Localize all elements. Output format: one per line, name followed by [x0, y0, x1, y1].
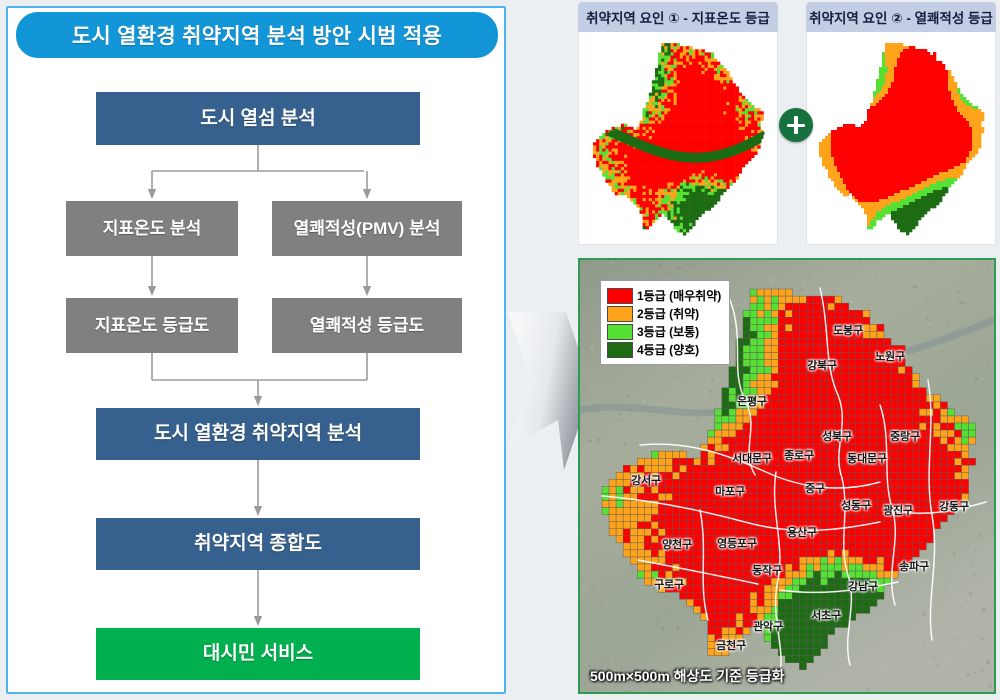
district-label-중구: 중구 [805, 480, 825, 496]
factor-card-2: 취약지역 요인 ② - 열쾌적성 등급 [806, 2, 996, 245]
legend-label-grade-4: 4등급 (양호) [637, 341, 699, 358]
district-label-중랑구: 중랑구 [890, 428, 920, 444]
legend-row: 4등급 (양호) [607, 341, 721, 358]
flow-node-vulnerable-area-analysis[interactable]: 도시 열환경 취약지역 분석 [96, 408, 420, 460]
district-label-종로구: 종로구 [784, 447, 814, 463]
legend-row: 2등급 (취약) [607, 305, 721, 322]
legend-swatch-grade-2 [607, 306, 633, 322]
vulnerability-composite-map[interactable]: 1등급 (매우취약) 2등급 (취약) 3등급 (보통) 4등급 (양호) 도봉… [578, 258, 996, 694]
factor-card-2-map[interactable] [806, 32, 996, 245]
district-label-강북구: 강북구 [807, 357, 837, 373]
district-label-양천구: 양천구 [662, 536, 692, 552]
flow-node-citizen-service[interactable]: 대시민 서비스 [96, 628, 420, 680]
legend-swatch-grade-4 [607, 342, 633, 358]
district-label-광진구: 광진구 [883, 502, 913, 518]
district-label-용산구: 용산구 [787, 524, 817, 540]
district-label-성동구: 성동구 [841, 497, 871, 513]
factor-card-2-header: 취약지역 요인 ② - 열쾌적성 등급 [806, 2, 996, 32]
flow-node-lst-grade[interactable]: 지표온도 등급도 [66, 298, 238, 353]
factor-card-1: 취약지역 요인 ① - 지표온도 등급 [578, 2, 778, 245]
factor-card-1-map[interactable] [578, 32, 778, 245]
district-label-관악구: 관악구 [753, 618, 783, 634]
lst-grade-thumbnail [579, 32, 777, 244]
flowchart-panel: 도시 열환경 취약지역 분석 방안 시범 적용 [6, 6, 506, 694]
flow-node-heat-island[interactable]: 도시 열섬 분석 [96, 92, 420, 145]
district-label-강동구: 강동구 [939, 498, 969, 514]
district-label-노원구: 노원구 [875, 348, 905, 364]
legend-row: 1등급 (매우취약) [607, 287, 721, 304]
district-label-은평구: 은평구 [737, 393, 767, 409]
district-label-성북구: 성북구 [822, 428, 852, 444]
district-label-강남구: 강남구 [848, 578, 878, 594]
legend-label-grade-1: 1등급 (매우취약) [637, 287, 721, 304]
flow-node-vulnerable-area-map[interactable]: 취약지역 종합도 [96, 518, 420, 570]
legend-label-grade-2: 2등급 (취약) [637, 305, 699, 322]
map-caption: 500m×500m 해상도 기준 등급화 [590, 666, 785, 686]
plus-icon [779, 108, 813, 142]
district-label-송파구: 송파구 [899, 558, 929, 574]
district-label-강서구: 강서구 [631, 472, 661, 488]
flow-node-lst-analysis[interactable]: 지표온도 분석 [66, 201, 238, 256]
district-label-구로구: 구로구 [654, 576, 684, 592]
flow-node-pmv-analysis[interactable]: 열쾌적성(PMV) 분석 [272, 201, 462, 256]
map-legend: 1등급 (매우취약) 2등급 (취약) 3등급 (보통) 4등급 (양호) [600, 280, 730, 365]
legend-swatch-grade-3 [607, 324, 633, 340]
district-label-도봉구: 도봉구 [833, 322, 863, 338]
legend-label-grade-3: 3등급 (보통) [637, 323, 699, 340]
factor-card-1-header: 취약지역 요인 ① - 지표온도 등급 [578, 2, 778, 32]
pmv-grade-thumbnail [807, 32, 995, 244]
district-label-마포구: 마포구 [715, 483, 745, 499]
district-label-동대문구: 동대문구 [847, 450, 887, 466]
page-title: 도시 열환경 취약지역 분석 방안 시범 적용 [16, 12, 498, 58]
flow-node-pmv-grade[interactable]: 열쾌적성 등급도 [272, 298, 462, 353]
district-label-금천구: 금천구 [716, 637, 746, 653]
district-label-서초구: 서초구 [811, 607, 841, 623]
district-label-영등포구: 영등포구 [717, 535, 757, 551]
district-label-서대문구: 서대문구 [732, 450, 772, 466]
district-label-동작구: 동작구 [752, 562, 782, 578]
legend-swatch-grade-1 [607, 288, 633, 304]
presentation-slide: 도시 열환경 취약지역 분석 방안 시범 적용 [0, 0, 1000, 700]
legend-row: 3등급 (보통) [607, 323, 721, 340]
